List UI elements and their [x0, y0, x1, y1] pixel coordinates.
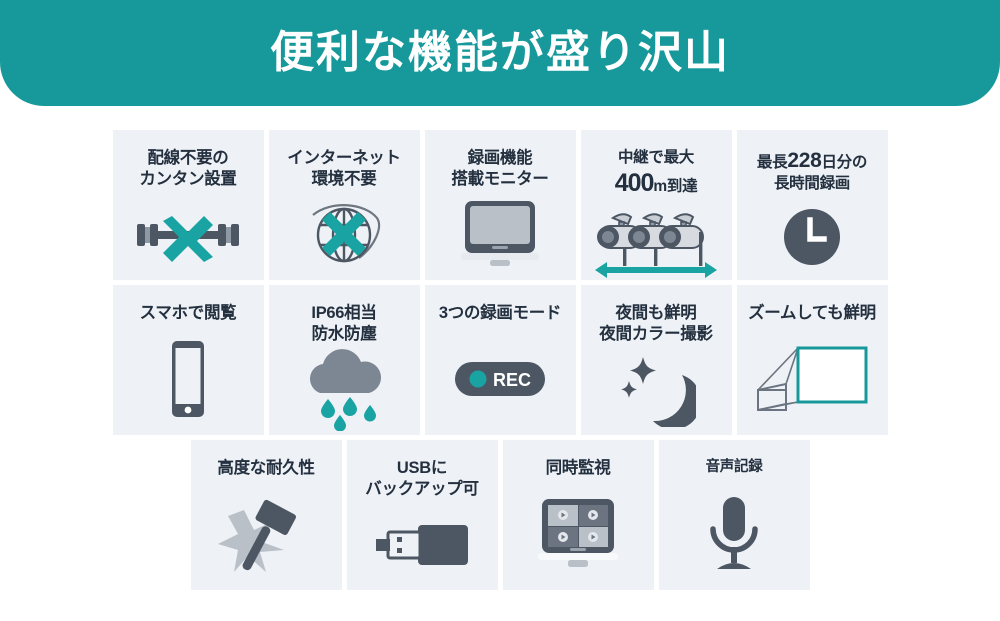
microphone-icon — [659, 476, 810, 590]
card-title: スマホで閲覧 — [140, 303, 237, 324]
card-title: 録画機能 搭載モニター — [451, 148, 548, 190]
range-number: 400 — [615, 169, 654, 197]
duration-prefix: 最長 — [757, 154, 787, 171]
feature-grid: 配線不要の カンタン設置 インターネット 環境不要 — [0, 106, 1000, 595]
card-title: 最長228日分の長時間録画 — [757, 148, 867, 194]
moon-sparkle-icon — [581, 345, 732, 435]
relay-cameras-icon — [581, 199, 732, 280]
hammer-impact-icon — [191, 479, 342, 590]
card-title-line2: 長時間録画 — [774, 175, 850, 192]
zoom-perspective-icon — [737, 324, 888, 435]
feature-card-simultaneous-monitoring[interactable]: 同時監視 — [503, 440, 654, 590]
rec-badge-icon[interactable]: REC — [425, 324, 576, 435]
card-title: ズームしても鮮明 — [748, 303, 876, 324]
feature-row-2: スマホで閲覧 IP66相当 防水防塵 — [0, 285, 1000, 435]
card-title: 夜間も鮮明 夜間カラー撮影 — [599, 303, 712, 345]
duration-suffix: 日分の — [821, 154, 867, 171]
feature-row-1: 配線不要の カンタン設置 インターネット 環境不要 — [0, 130, 1000, 280]
feature-row-3: 高度な耐久性 USBに バックアップ可 — [0, 440, 1000, 590]
cable-cross-icon — [113, 190, 264, 280]
feature-card-relay-range[interactable]: 中継で最大400m到達 — [581, 130, 732, 280]
card-title: 同時監視 — [546, 458, 611, 479]
feature-card-usb-backup[interactable]: USBに バックアップ可 — [347, 440, 498, 590]
range-unit: m到達 — [653, 178, 697, 195]
card-title: 音声記録 — [706, 458, 763, 476]
feature-card-no-internet[interactable]: インターネット 環境不要 — [269, 130, 420, 280]
clock-icon — [737, 194, 888, 280]
page-title: 便利な機能が盛り沢山 — [270, 31, 730, 75]
card-title: USBに バックアップ可 — [365, 458, 478, 500]
rec-label: REC — [493, 370, 531, 390]
feature-card-monitor-recording[interactable]: 録画機能 搭載モニター — [425, 130, 576, 280]
duration-number: 228 — [787, 149, 821, 172]
feature-card-zoom-clarity[interactable]: ズームしても鮮明 — [737, 285, 888, 435]
card-title: IP66相当 防水防塵 — [311, 303, 376, 345]
monitor-icon — [425, 190, 576, 280]
feature-card-long-recording[interactable]: 最長228日分の長時間録画 — [737, 130, 888, 280]
rain-cloud-icon — [269, 345, 420, 435]
card-title: 中継で最大400m到達 — [615, 148, 698, 199]
quad-view-monitor-icon — [503, 479, 654, 590]
usb-connector-icon — [347, 500, 498, 590]
header-banner: 便利な機能が盛り沢山 — [0, 0, 1000, 106]
feature-card-wireless-setup[interactable]: 配線不要の カンタン設置 — [113, 130, 264, 280]
smartphone-icon — [113, 324, 264, 435]
globe-cross-icon — [269, 190, 420, 280]
card-title: 高度な耐久性 — [217, 458, 314, 479]
card-title: 配線不要の カンタン設置 — [139, 148, 236, 190]
card-title: インターネット 環境不要 — [287, 148, 400, 190]
feature-card-recording-modes[interactable]: 3つの録画モード REC — [425, 285, 576, 435]
card-title: 3つの録画モード — [439, 303, 561, 324]
card-title-line1: 中継で最大 — [618, 149, 694, 166]
feature-card-smartphone-view[interactable]: スマホで閲覧 — [113, 285, 264, 435]
feature-card-audio-recording[interactable]: 音声記録 — [659, 440, 810, 590]
feature-card-night-color[interactable]: 夜間も鮮明 夜間カラー撮影 — [581, 285, 732, 435]
feature-card-durability[interactable]: 高度な耐久性 — [191, 440, 342, 590]
feature-card-waterproof[interactable]: IP66相当 防水防塵 — [269, 285, 420, 435]
